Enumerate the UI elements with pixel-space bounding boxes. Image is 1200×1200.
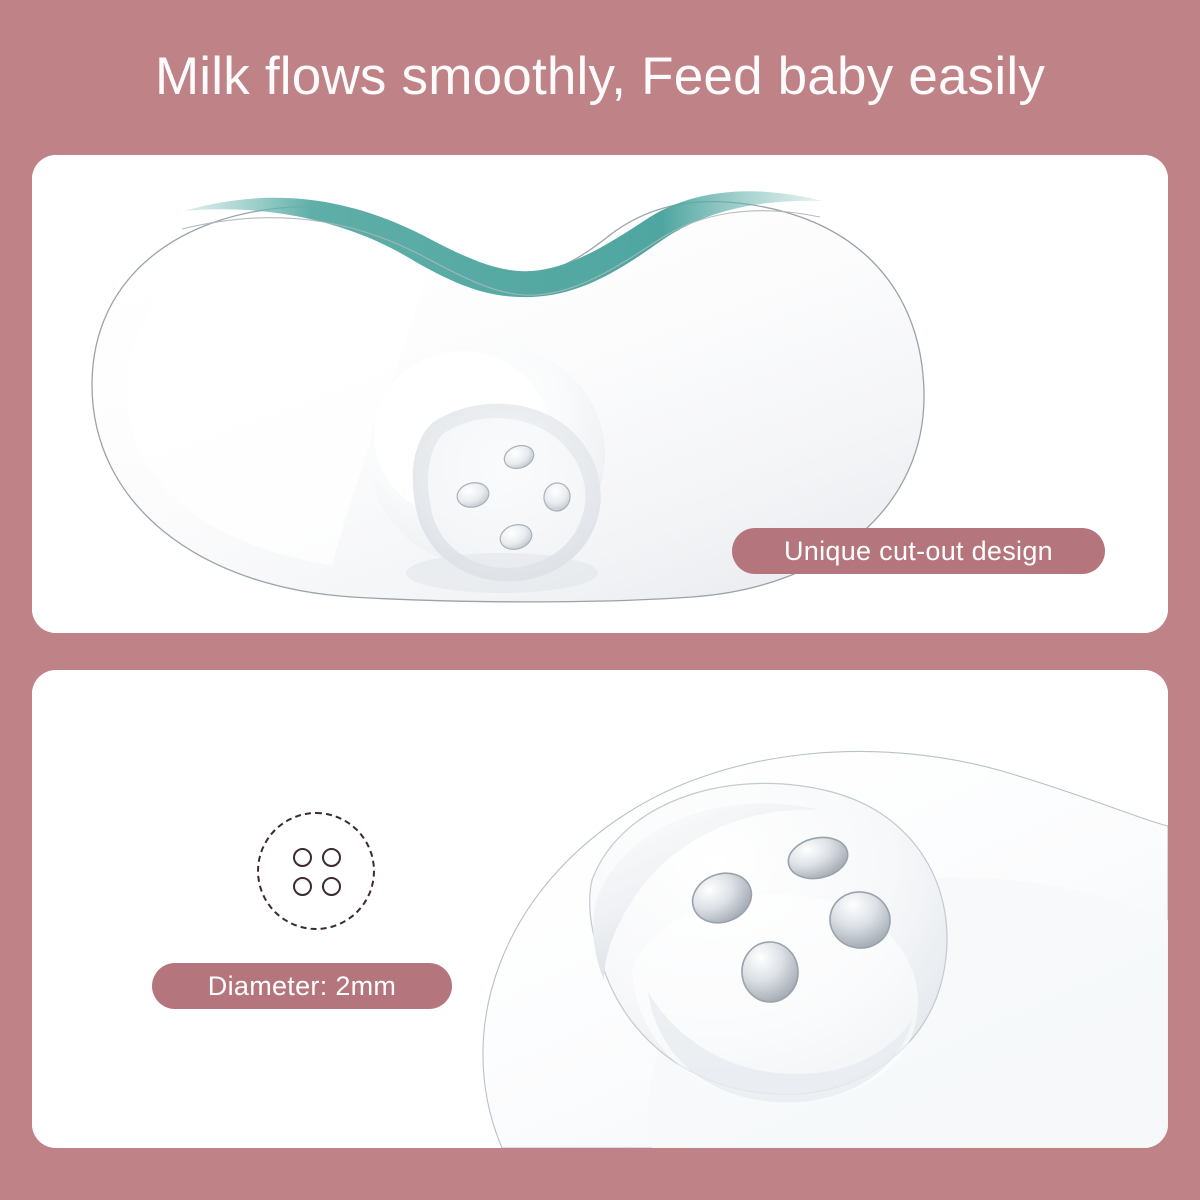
dome-shadow [406,553,598,593]
label-text: Unique cut-out design [784,536,1053,567]
product-photo-vent-holes-macro [32,670,1168,1148]
label-diameter: Diameter: 2mm [152,963,452,1009]
feature-card-hole-diameter: Diameter: 2mm [32,670,1168,1148]
vent-holes-macro-illustration [32,670,1168,1148]
hole-ring-icon [322,877,341,896]
feature-card-cutout-design: Unique cut-out design [32,155,1168,633]
page-headline: Milk flows smoothly, Feed baby easily [0,0,1200,152]
vent-hole-diagram [293,848,341,896]
headline-text: Milk flows smoothly, Feed baby easily [155,46,1045,107]
hole-ring-icon [293,848,312,867]
label-text: Diameter: 2mm [208,971,396,1002]
hole-ring-icon [322,848,341,867]
hole-ring-icon [293,877,312,896]
label-unique-cutout-design: Unique cut-out design [732,528,1105,574]
